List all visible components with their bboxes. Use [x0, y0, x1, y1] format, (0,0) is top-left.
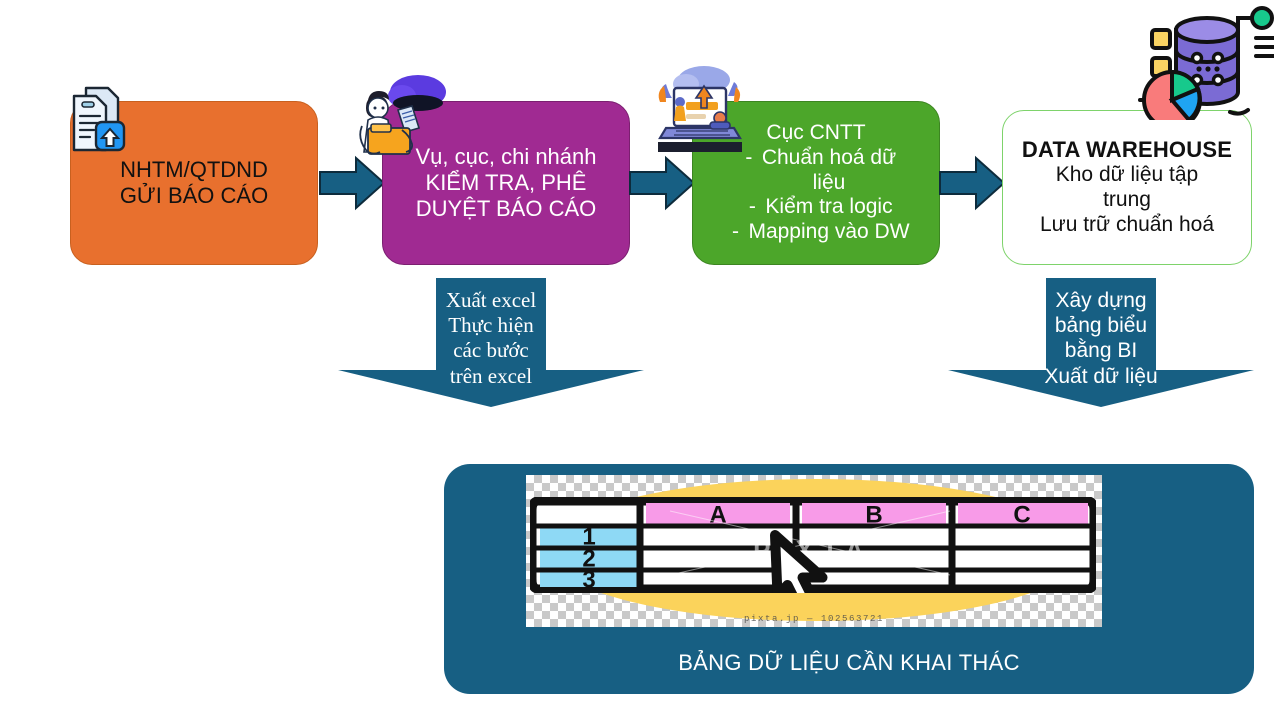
- label-line-2: Thực hiện: [336, 313, 646, 338]
- down-arrow-build-bi: Xây dựng bảng biểu bằng BI Xuất dữ liệu: [946, 278, 1256, 408]
- label-line-2: bảng biểu: [946, 313, 1256, 338]
- bullet-text: Mapping vào DW: [748, 220, 909, 245]
- bottom-panel-caption: BẢNG DỮ LIỆU CẦN KHAI THÁC: [444, 650, 1254, 676]
- down-arrow-export-excel-label: Xuất excel Thực hiện các bước trên excel: [336, 278, 646, 389]
- bullet-text: Kiểm tra logic: [765, 195, 892, 220]
- person-folder-cloud-illustration: [352, 70, 448, 162]
- box-approve-line-3: DUYỆT BÁO CÁO: [416, 196, 597, 222]
- spreadsheet-stock-illustration: A B C 1 2 3 PIXTA pixta.jp — 102563721: [526, 475, 1102, 627]
- box-cntt-bullet-2: - Kiểm tra logic: [693, 195, 939, 220]
- label-line-4: trên excel: [336, 364, 646, 389]
- svg-text:B: B: [865, 501, 882, 528]
- svg-text:A: A: [709, 501, 726, 528]
- document-upload-icon: [66, 82, 130, 154]
- bullet-text: liệu: [813, 171, 846, 196]
- spreadsheet-table-graphic: A B C 1 2 3 PIXTA: [530, 497, 1096, 593]
- bullet-text: Chuẩn hoá dữ: [762, 146, 896, 171]
- box-dw-title: DATA WAREHOUSE: [1022, 137, 1232, 163]
- stock-image-watermark: pixta.jp — 102563721: [526, 614, 1102, 624]
- box-cntt-bullet-3: - Mapping vào DW: [693, 220, 939, 245]
- laptop-cloud-upload-illustration: [652, 62, 748, 158]
- box-report-line-1: NHTM/QTDND: [120, 157, 268, 183]
- box-dw-line-2: trung: [1103, 188, 1151, 213]
- label-line-1: Xuất excel: [336, 288, 646, 313]
- label-line-3: bằng BI: [946, 338, 1256, 363]
- process-box-data-warehouse[interactable]: DATA WAREHOUSE Kho dữ liệu tập trung Lưu…: [1002, 110, 1252, 265]
- arrow-approve-to-cntt: [628, 152, 696, 214]
- box-report-line-2: GỬI BÁO CÁO: [120, 183, 268, 209]
- bullet-dash: -: [739, 195, 765, 220]
- box-approve-line-2: KIỂM TRA, PHÊ: [426, 170, 587, 196]
- label-line-3: các bước: [336, 338, 646, 363]
- down-arrow-export-excel: Xuất excel Thực hiện các bước trên excel: [336, 278, 646, 408]
- arrow-cntt-to-dw: [938, 152, 1006, 214]
- box-dw-line-1: Kho dữ liệu tập: [1056, 163, 1199, 188]
- label-line-1: Xây dựng: [946, 288, 1256, 313]
- box-cntt-bullet-1-cont: liệu: [693, 171, 939, 196]
- box-cntt-heading: Cục CNTT: [766, 121, 865, 146]
- svg-text:C: C: [1013, 501, 1030, 528]
- down-arrow-build-bi-label: Xây dựng bảng biểu bằng BI Xuất dữ liệu: [946, 278, 1256, 389]
- bullet-dash: -: [722, 220, 748, 245]
- label-line-4: Xuất dữ liệu: [946, 364, 1256, 389]
- database-pie-chart-illustration: [1134, 0, 1274, 120]
- svg-text:3: 3: [582, 566, 595, 593]
- box-dw-line-3: Lưu trữ chuẩn hoá: [1040, 213, 1214, 238]
- diagram-canvas: NHTM/QTDND GỬI BÁO CÁO Vụ, cục,: [0, 0, 1280, 721]
